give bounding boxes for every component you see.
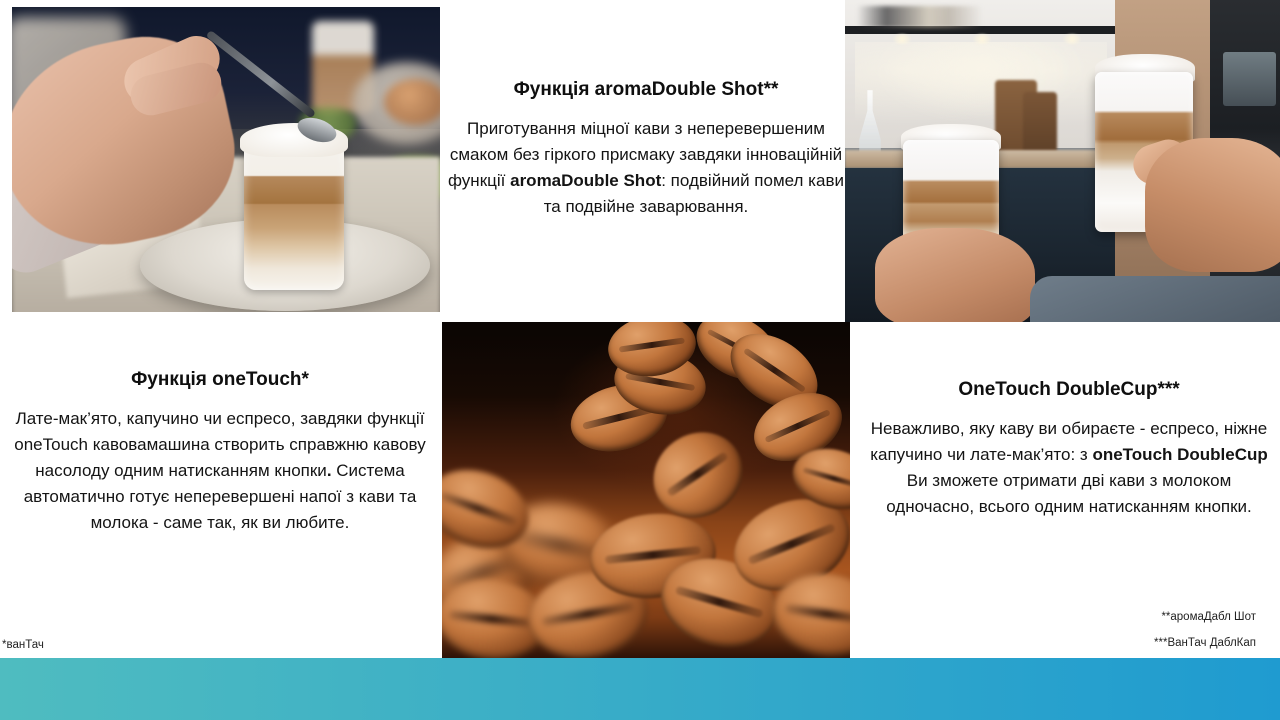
footnote-aroma-double-shot: **аромаДабл Шот xyxy=(1154,610,1256,624)
photo-left-hand xyxy=(875,228,1035,322)
photo-spotlight-2 xyxy=(973,34,991,44)
photo-food xyxy=(384,79,440,125)
doublecup-body-part2: Ви зможете отримати дві кави з молоком о… xyxy=(886,471,1252,516)
photo-spotlight-3 xyxy=(1063,34,1081,44)
footnote-one-touch: *ванТач xyxy=(2,638,44,652)
double-cup-title: OneTouch DoubleCup*** xyxy=(862,378,1276,402)
photo-oven-glass xyxy=(1223,52,1275,106)
photo-right-hand xyxy=(1145,138,1280,272)
aroma-body-bold: aromaDouble Shot xyxy=(510,171,661,190)
latte-table-photo xyxy=(12,7,440,312)
one-touch-text-block: Функція oneTouch* Лате-мак’ято, капучино… xyxy=(6,368,434,536)
photo-latte-glass xyxy=(244,135,344,290)
double-cup-text-block: OneTouch DoubleCup*** Неважливо, яку кав… xyxy=(862,378,1276,520)
presentation-slide: Функція aromaDouble Shot** Приготування … xyxy=(0,0,1280,720)
photo-cutting-board-2 xyxy=(1023,92,1057,158)
photo-shirt-shoulder xyxy=(1030,276,1280,322)
aroma-double-shot-title: Функція aromaDouble Shot** xyxy=(446,78,846,102)
aroma-double-shot-text-block: Функція aromaDouble Shot** Приготування … xyxy=(446,78,846,220)
aroma-double-shot-body: Приготування міцної кави з неперевершени… xyxy=(446,116,846,220)
footnote-double-cup: ***ВанТач ДаблКап xyxy=(1154,636,1256,650)
one-touch-body: Лате-мак’ято, капучино чи еспресо, завдя… xyxy=(6,406,434,536)
footnote-group-right: **аромаДабл Шот ***ВанТач ДаблКап xyxy=(1154,610,1256,662)
photo-shelf-items xyxy=(857,6,1066,28)
double-cup-body: Неважливо, яку каву ви обираєте - еспрес… xyxy=(862,416,1276,520)
photo-spotlight-1 xyxy=(893,34,911,44)
photo-wall-lights-glow xyxy=(855,42,1107,134)
double-cup-photo xyxy=(845,0,1280,322)
doublecup-body-bold: oneTouch DoubleCup xyxy=(1092,445,1267,464)
bottom-gradient-bar xyxy=(0,658,1280,720)
one-touch-title: Функція oneTouch* xyxy=(6,368,434,392)
coffee-beans-photo xyxy=(442,322,850,658)
